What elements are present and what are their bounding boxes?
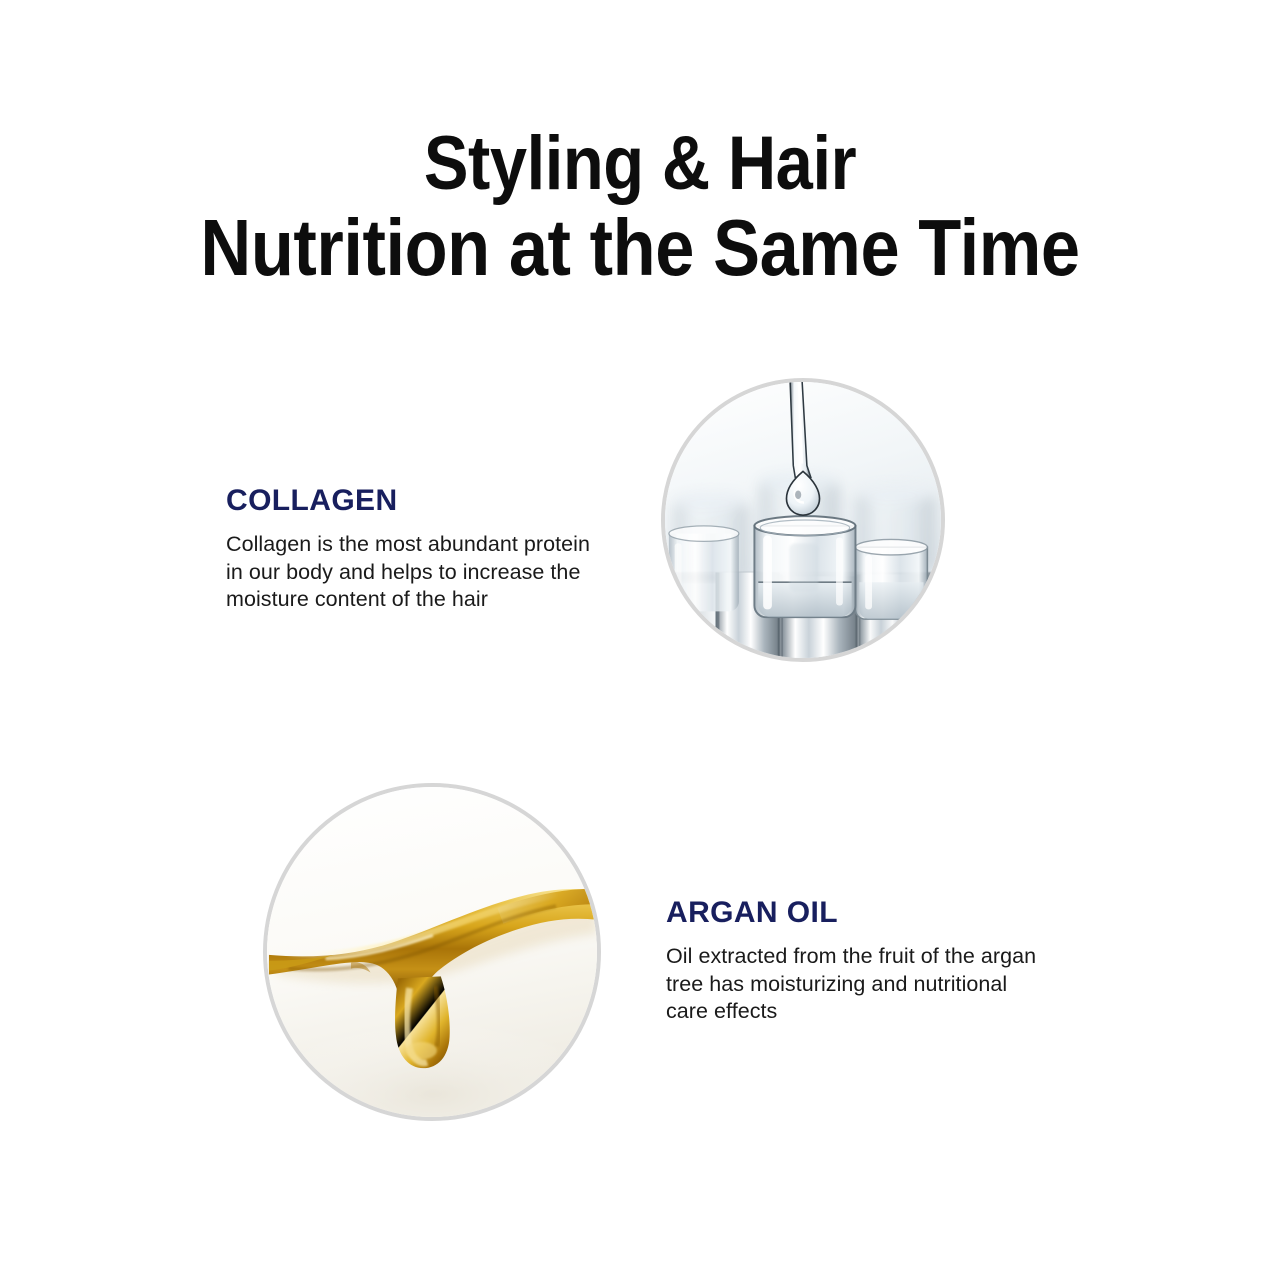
feature-body-line: tree has moisturizing and nutritional [666,971,1096,999]
headline-line-1: Styling & Hair [77,122,1203,206]
feature-body-line: in our body and helps to increase the [226,559,646,587]
feature-body-collagen: Collagen is the most abundant protein in… [226,531,646,614]
golden-argan-oil-drip-photo [263,783,601,1121]
feature-body-line: care effects [666,998,1096,1026]
feature-body-line: Collagen is the most abundant protein [226,531,646,559]
headline-line-2: Nutrition at the Same Time [77,206,1203,290]
pipette-dropper-over-glass-beakers-photo [661,378,945,662]
infographic-canvas: Styling & Hair Nutrition at the Same Tim… [0,0,1280,1280]
feature-title-collagen: COLLAGEN [226,484,398,518]
feature-body-line: moisture content of the hair [226,586,646,614]
page-title: Styling & Hair Nutrition at the Same Tim… [77,122,1203,290]
feature-body-argan-oil: Oil extracted from the fruit of the arga… [666,943,1096,1026]
feature-title-argan-oil: ARGAN OIL [666,896,838,930]
feature-body-line: Oil extracted from the fruit of the arga… [666,943,1096,971]
